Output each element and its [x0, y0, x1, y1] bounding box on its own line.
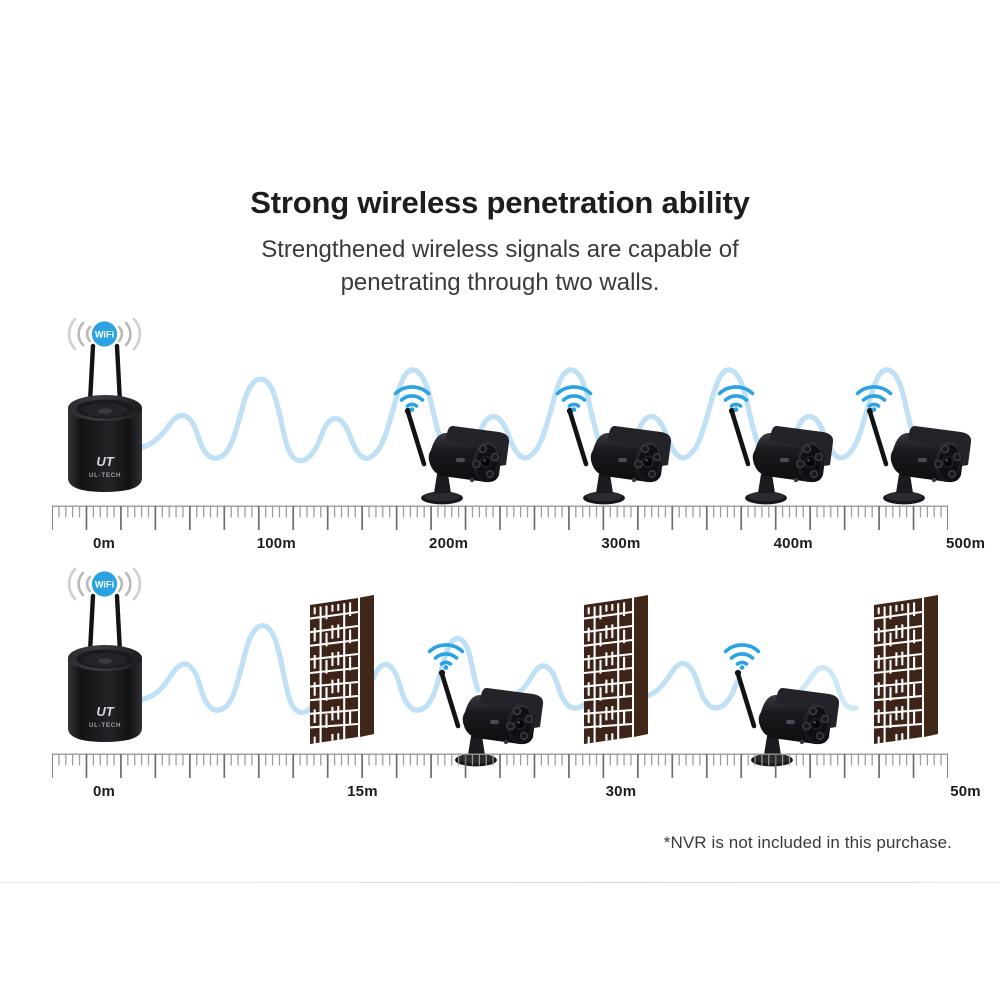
brick-wall-3 — [874, 595, 938, 744]
ruler-label: 15m — [347, 783, 378, 800]
svg-text:UL-TECH: UL-TECH — [89, 472, 121, 479]
brick-wall-1 — [310, 595, 374, 744]
svg-text:UT: UT — [96, 454, 114, 469]
svg-text:UL-TECH: UL-TECH — [89, 722, 121, 729]
scene-through-walls: WiFi UT UL-TECH — [0, 550, 1000, 780]
ruler-label: 0m — [93, 783, 115, 800]
svg-text:WiFi: WiFi — [95, 330, 114, 340]
ruler-open-space-labels: 0m100m200m300m400m500m — [52, 505, 1000, 531]
svg-text:UT: UT — [96, 704, 114, 719]
camera-200m — [405, 408, 509, 505]
nvr-wifi-badge-walls: WiFi — [69, 569, 140, 599]
footnote-nvr-disclaimer: *NVR is not included in this purchase. — [664, 833, 952, 853]
infographic-page: Strong wireless penetration ability Stre… — [0, 0, 1000, 1000]
camera-wall-2-wifi-icon — [726, 645, 759, 670]
svg-text:WiFi: WiFi — [95, 580, 114, 590]
ruler-through-walls: 0m15m30m50m — [52, 753, 948, 809]
ruler-label: 50m — [950, 783, 981, 800]
brick-wall-2 — [584, 595, 648, 744]
camera-300m — [567, 408, 671, 505]
nvr-wifi-badge-open: WiFi — [69, 319, 140, 349]
camera-500m — [867, 408, 971, 505]
bottom-divider — [0, 882, 1000, 883]
camera-300m-wifi-icon — [558, 387, 591, 412]
page-title: Strong wireless penetration ability — [0, 183, 1000, 223]
camera-wall-2 — [735, 670, 839, 767]
heading-block: Strong wireless penetration ability Stre… — [0, 183, 1000, 299]
nvr-device-open: WiFi UT UL-TECH — [68, 319, 142, 492]
nvr-device-walls: WiFi UT UL-TECH — [68, 569, 142, 742]
ruler-label: 30m — [606, 783, 637, 800]
camera-200m-wifi-icon — [396, 387, 429, 412]
subtitle-line-1: Strengthened wireless signals are capabl… — [0, 233, 1000, 266]
scene-open-space: WiFi UT UL-TECH — [0, 290, 1000, 520]
ruler-through-walls-labels: 0m15m30m50m — [52, 753, 1000, 779]
